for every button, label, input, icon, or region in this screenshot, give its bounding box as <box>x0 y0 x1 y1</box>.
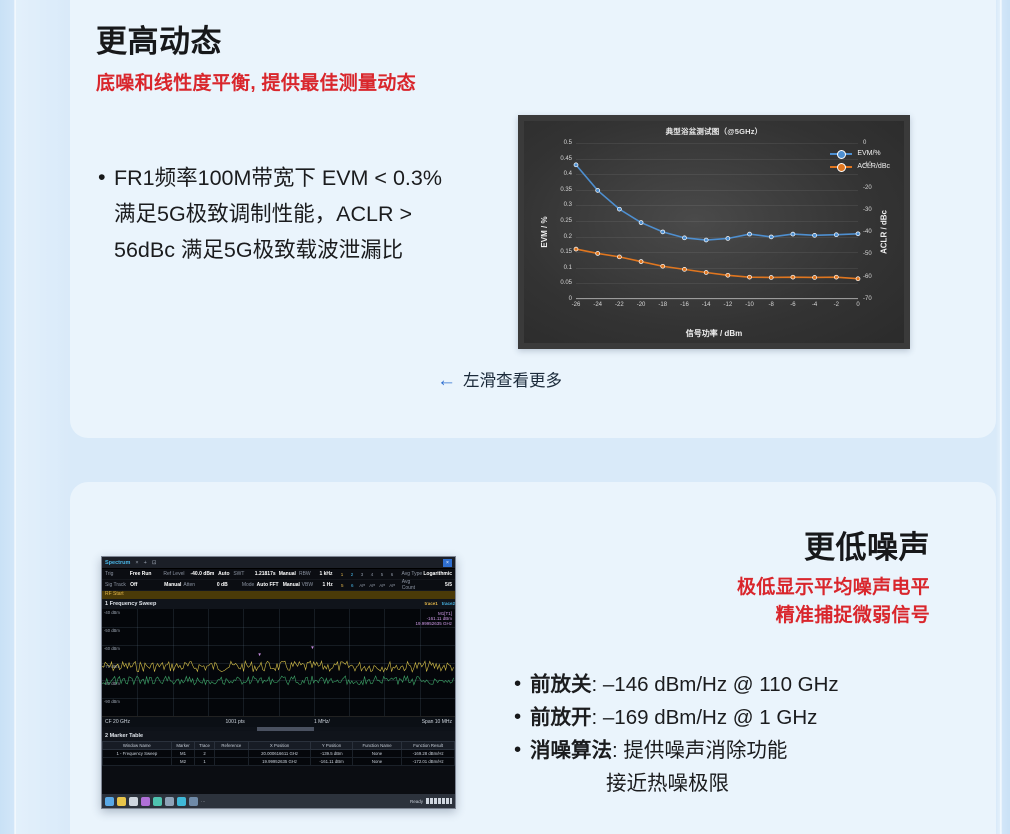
table-cell: M1 <box>171 750 195 758</box>
data-point <box>596 188 600 192</box>
y-tick-left: 0.15 <box>560 249 572 255</box>
analyzer-alert-bar: RF Start <box>102 591 455 599</box>
y-tick-left: 0.35 <box>560 187 572 193</box>
x-tick: -16 <box>680 302 689 308</box>
section2-title: 更低噪声 <box>804 522 930 567</box>
x-tick: -8 <box>769 302 774 308</box>
gridline <box>576 299 858 300</box>
x-tick: -18 <box>658 302 667 308</box>
list-item-separator: : <box>592 673 603 696</box>
x-tick: -12 <box>724 302 733 308</box>
list-item-label: 消噪算法 <box>530 739 612 762</box>
param-key: Atten <box>183 582 198 588</box>
y-tick-right: -40 <box>863 229 872 235</box>
x-tick: -26 <box>572 302 581 308</box>
marker-2-icon[interactable]: ▼ <box>310 645 314 650</box>
param-mode[interactable]: Manual <box>276 571 299 577</box>
param-value[interactable]: 1.21817s <box>246 571 275 577</box>
chart-series-svg <box>576 143 858 299</box>
list-item: 前放开: –169 dBm/Hz @ 1 GHz <box>512 701 952 734</box>
swipe-more-hint[interactable]: ←左滑查看更多 <box>437 367 562 392</box>
y-tick-left: 0.5 <box>564 140 572 146</box>
data-point <box>639 221 643 225</box>
table-column-header: Y Position <box>311 742 353 750</box>
section1-bullet-list: FR1频率100M带宽下 EVM < 0.3% 满足5G极致调制性能，ACLR … <box>96 160 466 268</box>
data-point <box>769 235 773 239</box>
y-tick-right: -60 <box>863 274 872 280</box>
series-line-1 <box>576 249 858 279</box>
trace-chip-1[interactable]: trace1 <box>424 599 437 609</box>
section1-subtitle: 底噪和线性度平衡, 提供最佳测量动态 <box>96 68 416 95</box>
data-point <box>856 277 860 281</box>
table-cell: -172.01 dBm/Hz <box>402 758 455 766</box>
table-cell: 19.99952635 GHz <box>248 758 310 766</box>
table-column-header: Trace <box>195 742 214 750</box>
data-point <box>596 251 600 255</box>
status-label: Ready <box>410 799 423 804</box>
data-point <box>726 273 730 277</box>
param-mode[interactable]: Manual <box>164 582 183 588</box>
x-tick: -20 <box>637 302 646 308</box>
y-tick-left: 0.45 <box>560 156 572 162</box>
y-tick-left: 0.4 <box>564 171 572 177</box>
tab-close-icon[interactable]: × <box>135 560 138 566</box>
data-point <box>769 276 773 280</box>
data-point <box>834 275 838 279</box>
chart-title: 典型浴盆测试图（@5GHz） <box>524 126 904 137</box>
y-tick-right: -20 <box>863 185 872 191</box>
list-item-label: 前放开 <box>530 706 592 729</box>
list-item-separator: : <box>592 706 603 729</box>
data-point <box>704 238 708 242</box>
page-root: 更高动态 底噪和线性度平衡, 提供最佳测量动态 FR1频率100M带宽下 EVM… <box>0 0 1010 834</box>
sweep-title: 1 Frequency Sweep <box>105 599 156 609</box>
list-item: 消噪算法: 提供噪声消除功能 接近热噪极限 <box>512 734 952 800</box>
x-tick: -14 <box>702 302 711 308</box>
table-column-header: Window Name <box>103 742 172 750</box>
trace-chip-2[interactable]: trace2 <box>442 599 455 609</box>
gear-icon[interactable] <box>177 797 186 806</box>
data-point <box>661 264 665 268</box>
display-icon[interactable] <box>189 797 198 806</box>
freq-points: 1001 pts <box>192 719 279 725</box>
param-value[interactable]: 0 dB <box>198 582 228 588</box>
table-cell: M2 <box>171 758 195 766</box>
analyzer-trace-graph[interactable]: -40 dBm-50 dBm-60 dBm-70 dBm-80 dBm-90 d… <box>102 609 455 717</box>
data-point <box>813 276 817 280</box>
param-value[interactable]: -40.0 dBm <box>185 571 214 577</box>
chart-y-axis-label-left: EVM / % <box>540 216 549 247</box>
list-item-value: –169 dBm/Hz @ 1 GHz <box>603 706 818 729</box>
page-right-edge <box>996 0 1010 834</box>
folder-icon[interactable] <box>117 797 126 806</box>
data-point <box>834 233 838 237</box>
analyzer-sweep-header: 1 Frequency Sweep trace1 trace2 <box>102 599 455 609</box>
list-item: 前放关: –146 dBm/Hz @ 110 GHz <box>512 668 952 701</box>
y-tick-left: 0.1 <box>564 265 572 271</box>
table-column-header: Function Name <box>352 742 402 750</box>
param-key: Mode <box>228 582 255 588</box>
table-body: 1 - Frequency SweepM1220.000616611 GHz-1… <box>103 750 455 766</box>
dock-icon[interactable]: ⊡ <box>152 560 157 566</box>
list-item-value: 提供噪声消除功能 <box>623 739 787 762</box>
analyzer-param-row-2: Sig Track Off Manual Atten 0 dB Mode Aut… <box>102 580 455 591</box>
data-point <box>748 232 752 236</box>
camera-icon[interactable] <box>141 797 150 806</box>
data-point <box>617 207 621 211</box>
table-column-header: Function Result <box>402 742 455 750</box>
param-value[interactable]: Auto FFT <box>254 582 281 588</box>
analyzer-titlebar: Spectrum × + ⊡ × <box>102 557 455 569</box>
data-point <box>574 163 578 167</box>
table-cell: 1 <box>195 758 214 766</box>
more-icon[interactable]: ··· <box>201 799 206 804</box>
freq-span: Span 10 MHz <box>365 719 452 725</box>
trace-detector-indicators: 56APAPAPAP <box>339 583 396 588</box>
list-item-value-continued: 接近热噪极限 <box>530 767 952 800</box>
param-key: VBW <box>302 582 315 588</box>
analyzer-frequency-bar: CF 20 GHz 1001 pts 1 MHz/ Span 10 MHz <box>102 717 455 727</box>
series-line-0 <box>576 165 858 240</box>
y-tick-right: -10 <box>863 162 872 168</box>
arrow-left-icon: ← <box>437 370 456 391</box>
data-point <box>791 275 795 279</box>
data-point <box>661 230 665 234</box>
table-cell <box>214 750 248 758</box>
y-tick-right: -30 <box>863 207 872 213</box>
marker-table-title: 2 Marker Table <box>102 731 455 741</box>
param-value[interactable]: 1 Hz <box>315 582 333 588</box>
param-key: Avg Type <box>402 571 424 577</box>
x-tick: -22 <box>615 302 624 308</box>
y-tick-left: 0.05 <box>560 280 572 286</box>
y-tick-left: 0.3 <box>564 202 572 208</box>
data-point <box>856 232 860 236</box>
section2-bullet-list: 前放关: –146 dBm/Hz @ 110 GHz 前放开: –169 dBm… <box>512 668 952 800</box>
tools-icon[interactable] <box>153 797 162 806</box>
param-key: RBW <box>299 571 314 577</box>
analyzer-taskbar: ··· Ready <box>102 794 455 808</box>
param-value[interactable]: Free Run <box>130 571 164 577</box>
param-key: Ref Level <box>163 571 185 577</box>
graph-trace-svg <box>102 609 455 716</box>
noise-trace <box>102 676 454 685</box>
param-key: Trig <box>105 571 130 577</box>
table-cell: -139.5 dBm <box>311 750 353 758</box>
chart-evm-aclr: 典型浴盆测试图（@5GHz） EVM / % ACLR / dBc 信号功率 /… <box>518 115 910 349</box>
y-tick-left: 0.2 <box>564 234 572 240</box>
table-cell: None <box>352 758 402 766</box>
add-tab-icon[interactable]: + <box>144 560 147 566</box>
data-point <box>574 247 578 251</box>
x-tick: -6 <box>790 302 795 308</box>
table-cell: -161.11 dBm <box>311 758 353 766</box>
chart-plot-surface: 典型浴盆测试图（@5GHz） EVM / % ACLR / dBc 信号功率 /… <box>524 121 904 343</box>
param-value[interactable]: 5/5 <box>424 582 452 588</box>
close-icon[interactable]: × <box>443 559 452 567</box>
data-point <box>704 271 708 275</box>
x-tick: 0 <box>856 302 859 308</box>
section2-subtitle-line1: 极低显示平均噪声电平 <box>737 572 930 599</box>
signal-bars-icon <box>426 798 452 804</box>
data-point <box>617 255 621 259</box>
param-value[interactable]: Off <box>130 582 164 588</box>
swipe-hint-label: 左滑查看更多 <box>463 372 562 390</box>
y-tick-left: 0.25 <box>560 218 572 224</box>
x-tick: -10 <box>745 302 754 308</box>
data-point <box>682 236 686 240</box>
list-item-value: –146 dBm/Hz @ 110 GHz <box>603 673 839 696</box>
table-header-row: Window NameMarkerTraceReferenceX Positio… <box>103 742 455 750</box>
param-value[interactable]: 1 kHz <box>314 571 333 577</box>
y-tick-right: -50 <box>863 251 872 257</box>
table-row[interactable]: M2119.99952635 GHz-161.11 dBmNone-172.01… <box>103 758 455 766</box>
pen-icon[interactable] <box>165 797 174 806</box>
table-cell: None <box>352 750 402 758</box>
x-tick: -2 <box>834 302 839 308</box>
data-point <box>682 267 686 271</box>
data-point <box>726 237 730 241</box>
chart-plot-area: 0.50.450.40.350.30.250.20.150.10.050 0-1… <box>576 143 858 299</box>
table-column-header: Reference <box>214 742 248 750</box>
data-point <box>813 233 817 237</box>
table-cell <box>103 758 172 766</box>
param-mode[interactable]: Manual <box>281 582 302 588</box>
x-tick: -24 <box>593 302 602 308</box>
freq-center: CF 20 GHz <box>105 719 192 725</box>
list-item-separator: : <box>612 739 623 762</box>
param-mode[interactable]: Auto <box>214 571 233 577</box>
data-point <box>791 232 795 236</box>
table-row[interactable]: 1 - Frequency SweepM1220.000616611 GHz-1… <box>103 750 455 758</box>
trace-state-indicators: 123456 <box>339 572 396 577</box>
table-column-header: Marker <box>171 742 195 750</box>
spectrum-analyzer-screenshot: Spectrum × + ⊡ × Trig Free Run Ref Level… <box>101 556 456 809</box>
freq-per-div: 1 MHz/ <box>279 719 366 725</box>
analyzer-scrollbar[interactable] <box>102 727 455 731</box>
chart-y-axis-label-right: ACLR / dBc <box>880 210 889 254</box>
table-cell: -169.28 dBm/Hz <box>402 750 455 758</box>
settings-icon[interactable] <box>105 797 114 806</box>
table-column-header: X Position <box>248 742 310 750</box>
legend-label: EVM/% <box>857 150 880 157</box>
param-value[interactable]: Logarithmic <box>423 571 452 577</box>
param-key: SWT <box>233 571 246 577</box>
table-cell: 20.000616611 GHz <box>248 750 310 758</box>
y-tick-right: 0 <box>863 140 866 146</box>
analyzer-tab-spectrum[interactable]: Spectrum <box>105 560 130 566</box>
chart-x-axis-label: 信号功率 / dBm <box>524 328 904 339</box>
data-point <box>748 275 752 279</box>
table-cell: 1 - Frequency Sweep <box>103 750 172 758</box>
data-point <box>639 260 643 264</box>
param-key: Sig Track <box>105 582 130 588</box>
x-tick: -4 <box>812 302 817 308</box>
table-cell: 2 <box>195 750 214 758</box>
y-tick-right: -70 <box>863 296 872 302</box>
section2-subtitle-line2: 精准捕捉微弱信号 <box>776 600 930 627</box>
section1-title: 更高动态 <box>96 16 222 61</box>
marker-1-icon[interactable]: ▼ <box>257 652 261 657</box>
marker-table: Window NameMarkerTraceReferenceX Positio… <box>102 741 455 766</box>
noise-trace <box>102 661 454 672</box>
file-icon[interactable] <box>129 797 138 806</box>
param-key: Avg Count <box>402 579 424 591</box>
table-cell <box>214 758 248 766</box>
list-item-label: 前放关 <box>530 673 592 696</box>
list-item: FR1频率100M带宽下 EVM < 0.3% 满足5G极致调制性能，ACLR … <box>96 160 466 268</box>
